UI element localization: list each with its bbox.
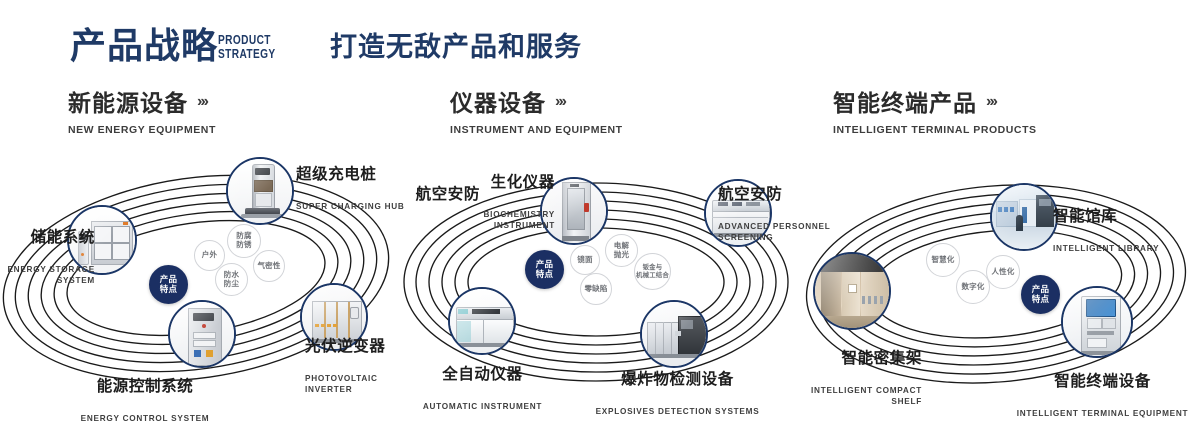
cluster-new-energy: 产品 特点 户外 防腐 防锈 防水 防尘 气密性 — [0, 150, 400, 412]
section-title-cn: 智能终端产品 — [833, 92, 977, 115]
infographic-canvas: 产品战略 PRODUCT STRATEGY 打造无敌产品和服务 新能源设备›››… — [0, 0, 1200, 422]
feature-bubble-mirror[interactable]: 镜面 — [570, 245, 600, 275]
product-label-explosives-detection: 爆炸物检测设备 EXPLOSIVES DETECTION SYSTEMS — [585, 355, 770, 434]
product-label-biochemistry-instrument: 生化仪器 BIOCHEMISTRY INSTRUMENT — [430, 158, 555, 248]
feature-bubble-sheetmetal[interactable]: 钣金与 机械工结合 — [634, 253, 671, 290]
product-label-en: EXPLOSIVES DETECTION SYSTEMS — [585, 407, 770, 418]
feature-bubble-anticorrosion[interactable]: 防腐 防锈 — [227, 224, 261, 258]
chevron-right-icon: ››› — [197, 94, 207, 110]
product-label-en: INTELLIGENT LIBRARY — [1053, 244, 1198, 255]
product-label-energy-control-system: 能源控制系统 ENERGY CONTROL SYSTEM — [55, 362, 235, 441]
section-title-en: INSTRUMENT AND EQUIPMENT — [450, 124, 623, 136]
product-label-cn: 能源控制系统 — [55, 378, 235, 395]
page-title-english: PRODUCT STRATEGY — [218, 33, 276, 61]
feature-bubble-zerodefect[interactable]: 零缺陷 — [580, 273, 612, 305]
section-title-new-energy: 新能源设备››› NEW ENERGY EQUIPMENT — [68, 92, 216, 136]
product-label-en: ENERGY CONTROL SYSTEM — [55, 414, 235, 425]
cluster-instrument: 产品 特点 镜面 电解 抛光 钣金与 机械工结合 零缺陷 — [400, 150, 800, 412]
product-label-en: INTELLIGENT COMPACT SHELF — [772, 386, 922, 407]
product-bubble-intelligent-library[interactable] — [990, 183, 1058, 251]
product-label-cn: 智能馆库 — [1053, 208, 1198, 225]
chevron-right-icon: ››› — [986, 94, 996, 110]
core-feature-bubble[interactable]: 产品 特点 — [525, 250, 564, 289]
feature-bubble-electropolish[interactable]: 电解 抛光 — [605, 234, 638, 267]
feature-bubble-humanized[interactable]: 人性化 — [986, 255, 1020, 289]
section-title-cn: 仪器设备 — [450, 92, 546, 115]
product-label-cn: 生化仪器 — [430, 174, 555, 191]
feature-bubble-waterproof[interactable]: 防水 防尘 — [215, 263, 248, 296]
page-slogan: 打造无敌产品和服务 — [330, 34, 582, 61]
product-label-cn: 智能终端设备 — [1005, 373, 1200, 390]
feature-bubble-digital[interactable]: 数字化 — [956, 270, 990, 304]
chevron-right-icon: ››› — [555, 94, 565, 110]
section-title-en: INTELLIGENT TERMINAL PRODUCTS — [833, 124, 1037, 136]
product-label-en: AUTOMATIC INSTRUMENT — [400, 402, 565, 413]
core-feature-bubble[interactable]: 产品 特点 — [149, 265, 188, 304]
page-header: 产品战略 PRODUCT STRATEGY 打造无敌产品和服务 — [0, 0, 1200, 90]
product-bubble-energy-control-system[interactable] — [168, 300, 236, 368]
product-label-en: BIOCHEMISTRY INSTRUMENT — [430, 210, 555, 231]
core-feature-bubble[interactable]: 产品 特点 — [1021, 275, 1060, 314]
product-label-en: INTELLIGENT TERMINAL EQUIPMENT — [1005, 409, 1200, 420]
section-title-instrument: 仪器设备››› INSTRUMENT AND EQUIPMENT — [450, 92, 623, 136]
product-bubble-automatic-instrument[interactable] — [448, 287, 516, 355]
product-bubble-intelligent-compact-shelf[interactable] — [813, 252, 891, 330]
product-label-cn: 全自动仪器 — [400, 366, 565, 383]
product-label-automatic-instrument: 全自动仪器 AUTOMATIC INSTRUMENT — [400, 350, 565, 429]
product-label-energy-storage-system: 储能系统 ENERGY STORAGE SYSTEM — [0, 213, 95, 303]
product-label-intelligent-library: 智能馆库 INTELLIGENT LIBRARY — [1053, 192, 1198, 271]
product-bubble-super-charging-hub[interactable] — [226, 157, 294, 225]
product-label-cn: 储能系统 — [0, 229, 95, 246]
page-title: 产品战略 — [70, 28, 218, 64]
feature-bubble-airtight[interactable]: 气密性 — [253, 250, 285, 282]
product-label-cn: 爆炸物检测设备 — [585, 371, 770, 388]
product-label-intelligent-compact-shelf: 智能密集架 INTELLIGENT COMPACT SHELF — [772, 334, 922, 424]
section-title-terminal: 智能终端产品››› INTELLIGENT TERMINAL PRODUCTS — [833, 92, 1037, 136]
feature-bubble-intelligent[interactable]: 智慧化 — [926, 243, 960, 277]
cluster-terminal: 智慧化 数字化 人性化 产品 特点 — [800, 150, 1200, 412]
section-title-cn: 新能源设备 — [68, 92, 188, 115]
product-bubble-intelligent-terminal-equipment[interactable] — [1061, 286, 1133, 358]
product-label-en: ENERGY STORAGE SYSTEM — [0, 265, 95, 286]
product-label-cn: 智能密集架 — [772, 350, 922, 367]
section-title-en: NEW ENERGY EQUIPMENT — [68, 124, 216, 136]
product-label-intelligent-terminal-equipment: 智能终端设备 INTELLIGENT TERMINAL EQUIPMENT — [1005, 357, 1200, 436]
